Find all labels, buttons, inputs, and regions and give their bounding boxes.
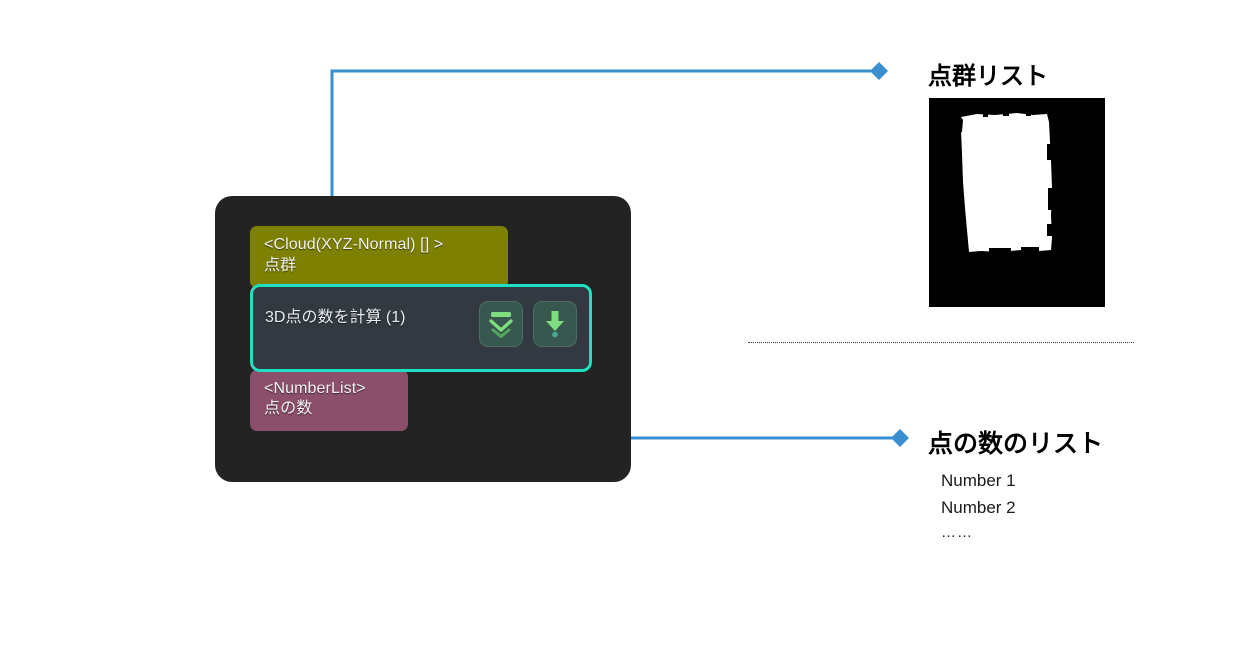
output-port-numberlist[interactable]: <NumberList> 点の数 bbox=[250, 370, 408, 432]
flatten-arrow-button[interactable] bbox=[533, 301, 577, 347]
arrow-diamond-cloud-right bbox=[870, 62, 888, 80]
flatten-arrow-icon bbox=[544, 310, 566, 338]
arrow-diamond-count-right bbox=[891, 429, 909, 447]
diagram-canvas: <Cloud(XYZ-Normal) [] > 点群 3D点の数を計算 (1) bbox=[0, 0, 1234, 651]
node-stack: <Cloud(XYZ-Normal) [] > 点群 3D点の数を計算 (1) bbox=[250, 226, 610, 431]
count-list-title: 点の数のリスト bbox=[928, 424, 1103, 460]
list-item: Number 1 bbox=[941, 468, 1016, 495]
operation-buttons bbox=[479, 301, 579, 347]
number-list: Number 1 Number 2 …… bbox=[941, 468, 1016, 544]
section-divider bbox=[748, 342, 1134, 343]
list-item: Number 2 bbox=[941, 495, 1016, 522]
input-port-cloud[interactable]: <Cloud(XYZ-Normal) [] > 点群 bbox=[250, 226, 508, 288]
output-port-type: <NumberList> bbox=[264, 379, 394, 400]
operation-label: 3D点の数を計算 (1) bbox=[265, 301, 479, 327]
input-port-name: 点群 bbox=[264, 256, 494, 277]
operation-body[interactable]: 3D点の数を計算 (1) bbox=[250, 284, 592, 372]
connector-cloud-list bbox=[323, 62, 888, 218]
input-port-type: <Cloud(XYZ-Normal) [] > bbox=[264, 235, 494, 256]
collapse-chevrons-icon bbox=[488, 310, 514, 338]
list-item-ellipsis: …… bbox=[941, 521, 1016, 544]
node-panel[interactable]: <Cloud(XYZ-Normal) [] > 点群 3D点の数を計算 (1) bbox=[215, 196, 631, 482]
collapse-chevrons-button[interactable] bbox=[479, 301, 523, 347]
point-cloud-thumbnail bbox=[929, 98, 1105, 307]
output-port-name: 点の数 bbox=[264, 399, 394, 420]
cloud-list-title: 点群リスト bbox=[928, 56, 1048, 91]
point-cloud-shape-icon bbox=[929, 98, 1105, 307]
